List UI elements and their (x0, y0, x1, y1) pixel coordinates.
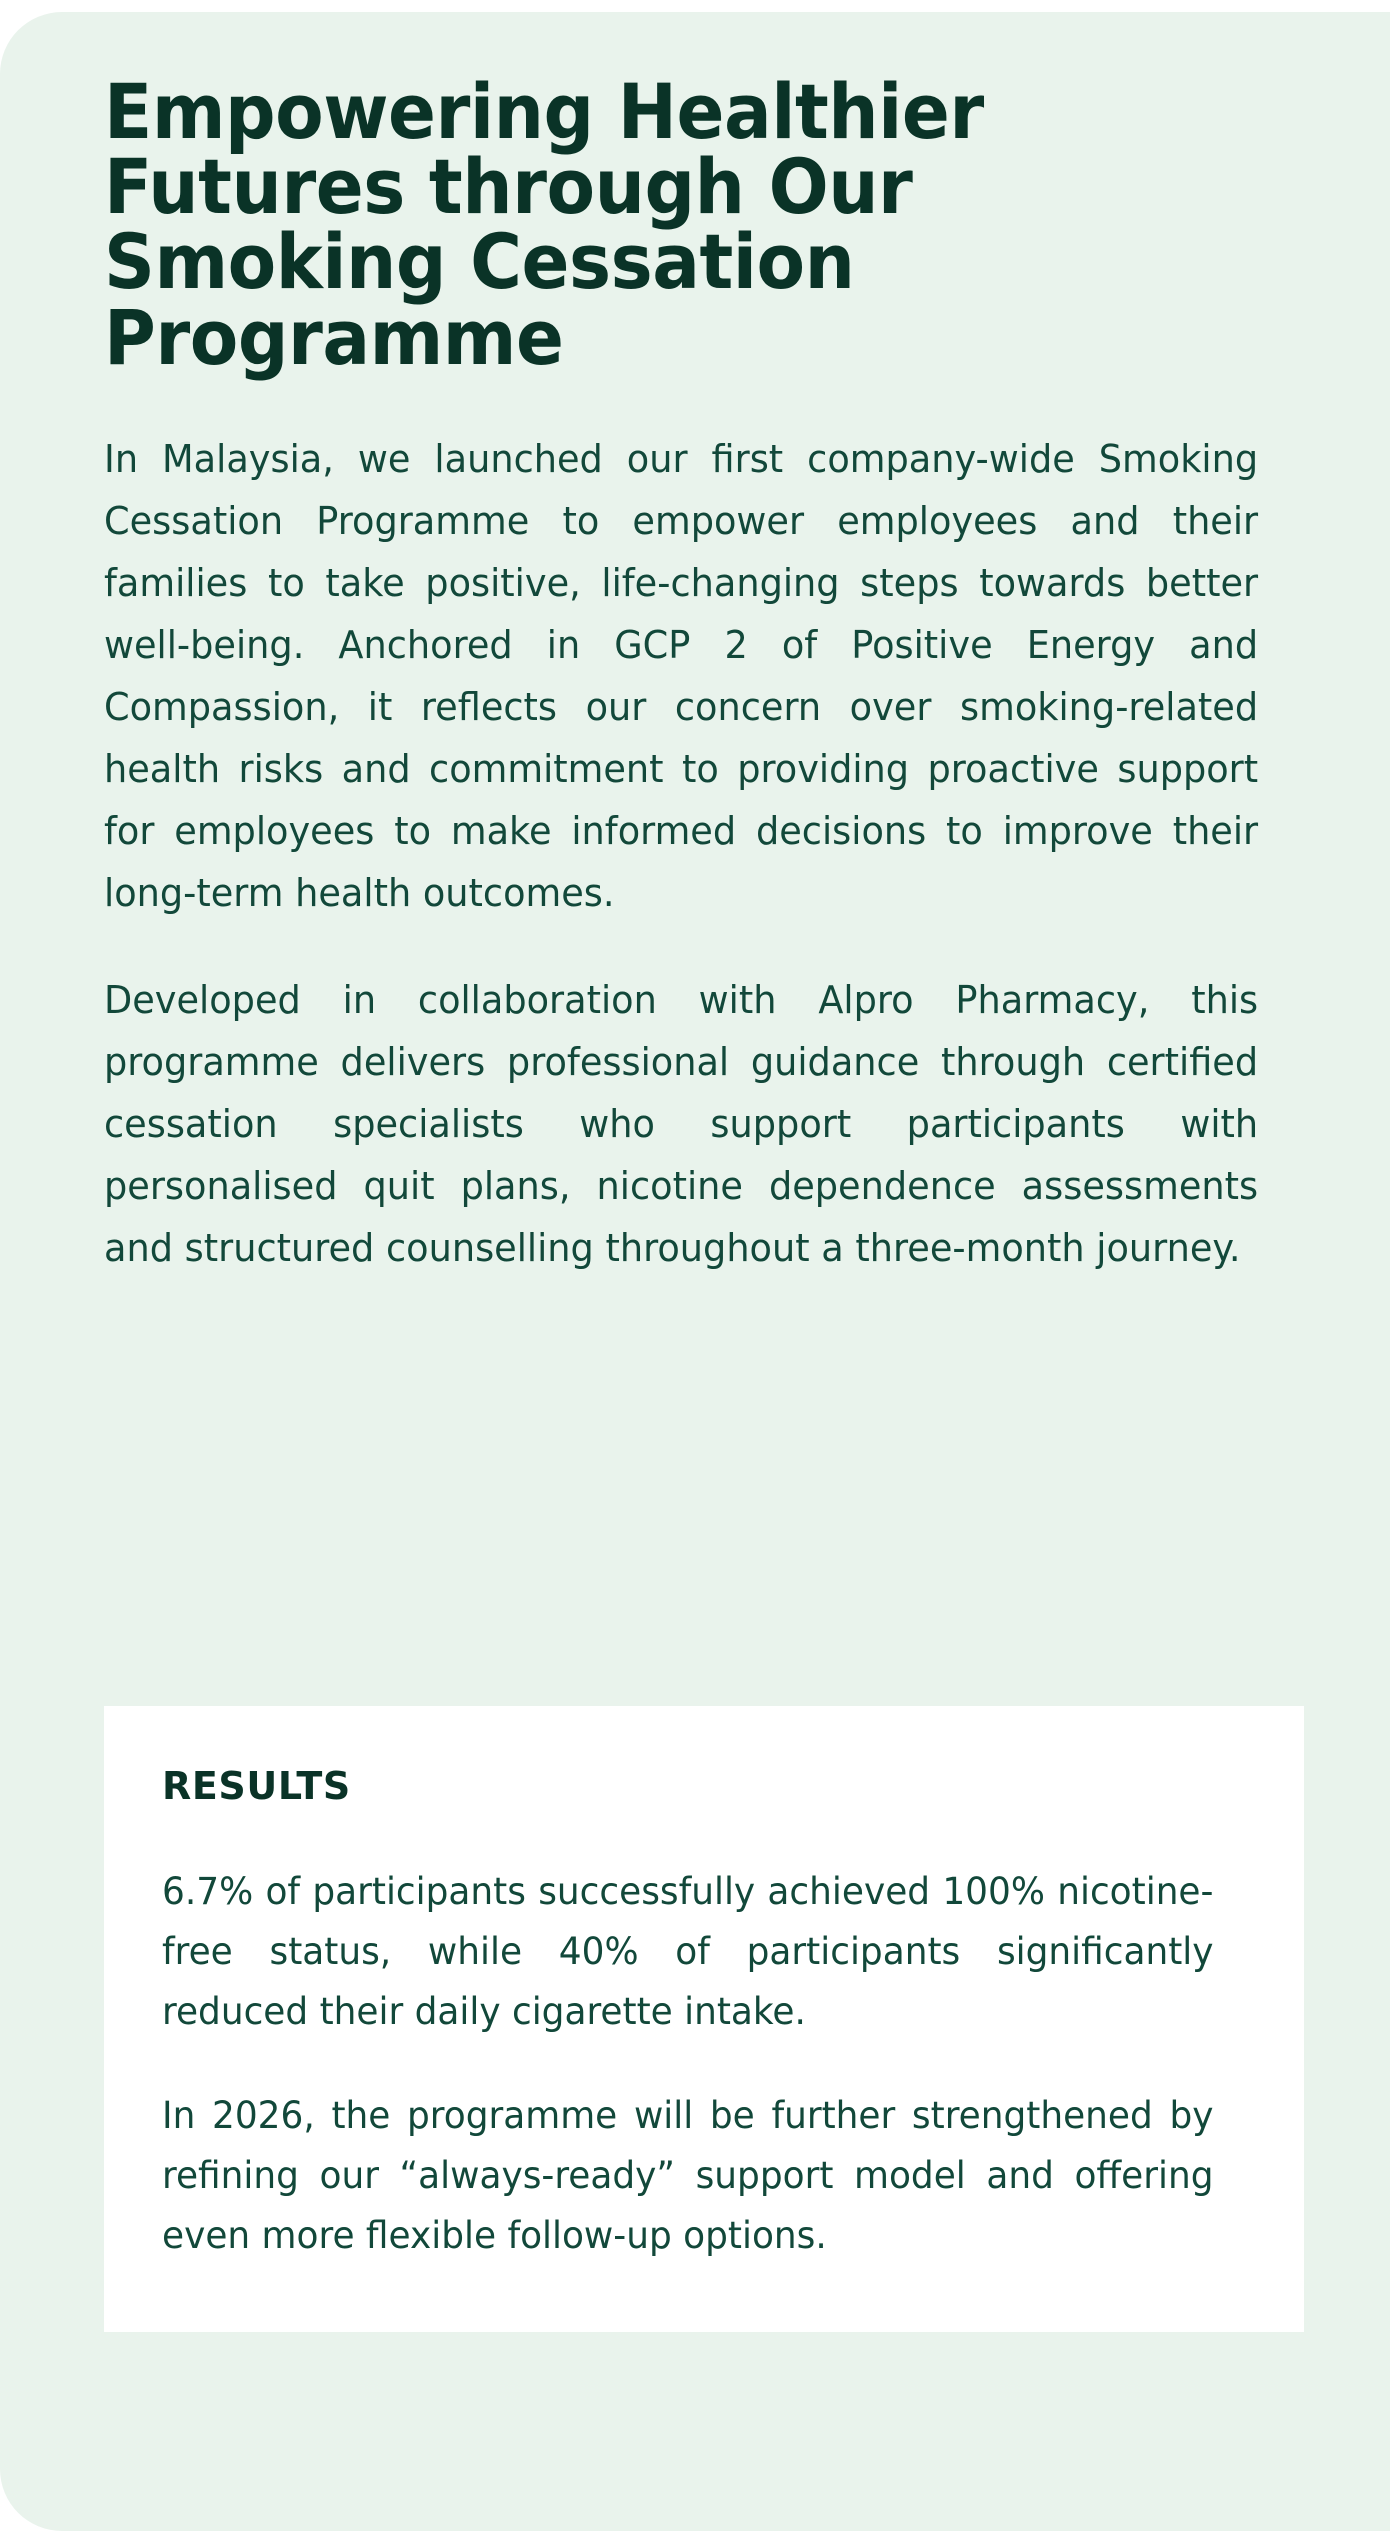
page-root: Empowering Healthier Futures through Our… (0, 0, 1390, 2543)
collaboration-paragraph: Developed in collaboration with Alpro Ph… (104, 970, 1258, 1280)
results-card: RESULTS 6.7% of participants successfull… (104, 1706, 1304, 2332)
results-heading: RESULTS (162, 1764, 1246, 1808)
panel-content: Empowering Healthier Futures through Our… (104, 74, 1300, 1280)
results-outcome-paragraph: 6.7% of participants successfully achiev… (162, 1862, 1213, 2042)
intro-paragraph: In Malaysia, we launched our first compa… (104, 429, 1258, 925)
results-future-paragraph: In 2026, the programme will be further s… (162, 2086, 1213, 2266)
page-title: Empowering Healthier Futures through Our… (104, 74, 997, 375)
feature-panel: Empowering Healthier Futures through Our… (0, 12, 1390, 2531)
